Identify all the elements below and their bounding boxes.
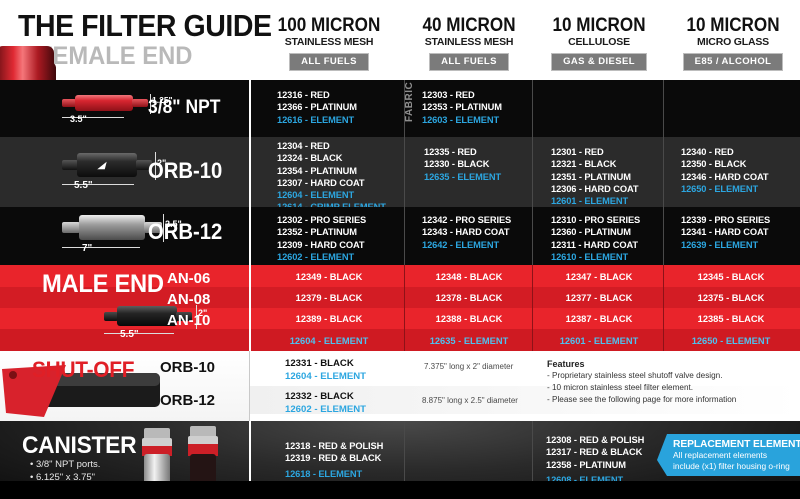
part-number: 12316 - RED xyxy=(277,89,357,101)
part-number: 12331 - BLACK xyxy=(285,358,366,371)
part-number: 12343 - HARD COAT xyxy=(422,226,511,238)
features-title: Features xyxy=(547,359,585,369)
male-end-title: MALE END xyxy=(42,270,164,299)
badge-line-1: All replacement elements xyxy=(673,450,794,461)
column-divider xyxy=(532,80,533,265)
element-part-number: 12616 - ELEMENT xyxy=(277,114,357,126)
part-number: 12347 - BLACK xyxy=(534,272,664,282)
element-part-number: 12601 - ELEMENT xyxy=(534,336,664,346)
part-list-shutoff-1: 12332 - BLACK 12602 - ELEMENT xyxy=(285,391,366,416)
element-part-number: 12604 - ELEMENT xyxy=(254,336,404,346)
filter-image-orb10: ◢ xyxy=(62,152,154,178)
part-number: 12330 - BLACK xyxy=(424,158,501,170)
part-number: 12366 - PLATINUM xyxy=(277,101,357,113)
row-label-an08: AN-08 xyxy=(167,291,210,308)
part-list-canister-0: 12318 - RED & POLISH 12319 - RED & BLACK… xyxy=(285,440,383,480)
dimension-length: 5.5" xyxy=(74,180,93,191)
part-number: 12354 - PLATINUM xyxy=(277,165,386,177)
fuel-compatibility-badge: GAS & DIESEL xyxy=(551,53,647,71)
part-number: 12303 - RED xyxy=(422,89,502,101)
part-list-shutoff-0: 12331 - BLACK 12604 - ELEMENT xyxy=(285,358,366,383)
part-number: 12321 - BLACK xyxy=(551,158,639,170)
canister-title: CANISTER xyxy=(22,432,136,460)
part-number: 12388 - BLACK xyxy=(406,314,532,324)
element-part-number: 12604 - ELEMENT xyxy=(285,371,366,384)
part-number: 12324 - BLACK xyxy=(277,152,386,164)
shutoff-dimension-1: 8.875" long x 2.5" diameter xyxy=(422,396,518,405)
part-list-r1c0: 12304 - RED 12324 - BLACK 12354 - PLATIN… xyxy=(277,140,386,214)
row-label-npt: 3/8" NPT xyxy=(148,97,220,119)
part-number: 12345 - BLACK xyxy=(665,272,797,282)
part-number: 12351 - PLATINUM xyxy=(551,171,639,183)
part-number: 12353 - PLATINUM xyxy=(422,101,502,113)
part-number: 12349 - BLACK xyxy=(254,272,404,282)
element-part-number: 12650 - ELEMENT xyxy=(681,183,769,195)
row-label-an10: AN-10 xyxy=(167,312,210,329)
part-list-r1c2: 12301 - RED 12321 - BLACK 12351 - PLATIN… xyxy=(551,146,639,207)
badge-title: REPLACEMENT ELEMENTS xyxy=(673,439,794,450)
dimension-line xyxy=(62,184,134,185)
part-number: 12310 - PRO SERIES xyxy=(551,214,640,226)
part-number: 12318 - RED & POLISH xyxy=(285,440,383,452)
row-label-orb10: ORB-10 xyxy=(148,158,222,184)
part-number: 12304 - RED xyxy=(277,140,386,152)
part-number: 12306 - HARD COAT xyxy=(551,183,639,195)
part-number: 12375 - BLACK xyxy=(665,293,797,303)
replacement-elements-badge: REPLACEMENT ELEMENTS All replacement ele… xyxy=(657,434,800,476)
part-number: 12360 - PLATINUM xyxy=(551,226,640,238)
micron-rating: 40 MICRON xyxy=(412,16,525,35)
part-list-r2c0: 12302 - PRO SERIES 12352 - PLATINUM 1230… xyxy=(277,214,366,263)
part-number: 12352 - PLATINUM xyxy=(277,226,366,238)
page-title: THE FILTER GUIDE xyxy=(18,8,272,44)
element-part-number: 12635 - ELEMENT xyxy=(406,336,532,346)
column-divider xyxy=(663,80,664,265)
part-number: 12301 - RED xyxy=(551,146,639,158)
dimension-length: 3.5" xyxy=(70,114,87,124)
column-header-1: 40 MICRON STAINLESS MESH ALL FUELS xyxy=(406,16,532,71)
feature-item: - Please see the following page for more… xyxy=(547,395,736,404)
column-divider xyxy=(404,421,405,481)
micron-rating: 100 MICRON xyxy=(262,16,397,35)
part-list-r1c1: 12335 - RED 12330 - BLACK 12635 - ELEMEN… xyxy=(424,146,501,183)
part-number: 12387 - BLACK xyxy=(534,314,664,324)
column-divider xyxy=(249,265,251,351)
element-part-number: 12603 - ELEMENT xyxy=(422,114,502,126)
part-list-r2c1: 12342 - PRO SERIES 12343 - HARD COAT 126… xyxy=(422,214,511,251)
part-number: 12309 - HARD COAT xyxy=(277,239,366,251)
row-label-shutoff-orb12: ORB-12 xyxy=(160,392,215,409)
element-part-number: 12602 - ELEMENT xyxy=(285,404,366,417)
footer-bar xyxy=(0,481,800,499)
column-header-2: 10 MICRON CELLULOSE GAS & DIESEL xyxy=(534,16,664,71)
row-label-shutoff-orb10: ORB-10 xyxy=(160,359,215,376)
part-number: 12379 - BLACK xyxy=(254,293,404,303)
filter-material: STAINLESS MESH xyxy=(254,35,404,50)
part-number: 12378 - BLACK xyxy=(406,293,532,303)
filter-guide-infographic: THE FILTER GUIDE FEMALE END 100 MICRON S… xyxy=(0,0,800,499)
column-divider xyxy=(663,265,664,351)
fabric-label: FABRIC xyxy=(404,82,415,122)
micron-rating: 10 MICRON xyxy=(541,16,658,35)
canister-spec: • 3/8" NPT ports. xyxy=(30,459,100,470)
part-number: 12308 - RED & POLISH xyxy=(546,434,644,446)
element-part-number: 12602 - ELEMENT xyxy=(277,251,366,263)
column-divider xyxy=(249,80,251,265)
feature-item: - Proprietary stainless steel shutoff va… xyxy=(547,371,723,380)
element-part-number: 12639 - ELEMENT xyxy=(681,239,770,251)
part-number: 12346 - HARD COAT xyxy=(681,171,769,183)
column-header-3: 10 MICRON MICRO GLASS E85 / ALCOHOL xyxy=(666,16,800,71)
filter-image-npt xyxy=(62,94,150,112)
part-number: 12317 - RED & BLACK xyxy=(546,446,644,458)
part-list-r0c1: 12303 - RED 12353 - PLATINUM 12603 - ELE… xyxy=(422,89,502,126)
part-number: 12339 - PRO SERIES xyxy=(681,214,770,226)
column-divider xyxy=(532,421,533,481)
element-part-number: 12610 - ELEMENT xyxy=(551,251,640,263)
page-subtitle: FEMALE END xyxy=(38,42,192,71)
shutoff-dimension-0: 7.375" long x 2" diameter xyxy=(424,362,513,371)
part-number: 12389 - BLACK xyxy=(254,314,404,324)
filter-image-orb12 xyxy=(62,214,162,240)
part-list-r2c2: 12310 - PRO SERIES 12360 - PLATINUM 1231… xyxy=(551,214,640,263)
part-number: 12307 - HARD COAT xyxy=(277,177,386,189)
part-list-r0c0: 12316 - RED 12366 - PLATINUM 12616 - ELE… xyxy=(277,89,357,126)
part-number: 12302 - PRO SERIES xyxy=(277,214,366,226)
badge-line-2: include (x1) filter housing o-ring xyxy=(673,461,794,472)
column-divider xyxy=(404,265,405,351)
part-number: 12319 - RED & BLACK xyxy=(285,452,383,464)
shutoff-title: SHUT-OFF xyxy=(32,357,134,383)
part-list-r2c3: 12339 - PRO SERIES 12341 - HARD COAT 126… xyxy=(681,214,770,251)
part-number: 12348 - BLACK xyxy=(406,272,532,282)
part-number: 12335 - RED xyxy=(424,146,501,158)
part-number: 12342 - PRO SERIES xyxy=(422,214,511,226)
part-number: 12377 - BLACK xyxy=(534,293,664,303)
micron-rating: 10 MICRON xyxy=(673,16,794,35)
column-divider xyxy=(404,80,405,265)
part-number: 12385 - BLACK xyxy=(665,314,797,324)
column-divider xyxy=(532,265,533,351)
part-number: 12340 - RED xyxy=(681,146,769,158)
fuel-compatibility-badge: E85 / ALCOHOL xyxy=(683,53,784,71)
part-number: 12332 - BLACK xyxy=(285,391,366,404)
element-part-number: 12618 - ELEMENT xyxy=(285,468,383,480)
dimension-length: 5.5" xyxy=(120,329,139,340)
part-list-canister-2: 12308 - RED & POLISH 12317 - RED & BLACK… xyxy=(546,434,644,486)
filter-material: CELLULOSE xyxy=(534,35,664,50)
dimension-line xyxy=(104,333,174,334)
dimension-line xyxy=(62,247,140,248)
part-number: 12358 - PLATINUM xyxy=(546,459,644,471)
element-part-number: 12650 - ELEMENT xyxy=(665,336,797,346)
part-number: 12311 - HARD COAT xyxy=(551,239,640,251)
part-number: 12341 - HARD COAT xyxy=(681,226,770,238)
part-number: 12350 - BLACK xyxy=(681,158,769,170)
part-list-r1c3: 12340 - RED 12350 - BLACK 12346 - HARD C… xyxy=(681,146,769,195)
feature-item: - 10 micron stainless steel filter eleme… xyxy=(547,383,693,392)
element-part-number: 12635 - ELEMENT xyxy=(424,171,501,183)
filter-material: STAINLESS MESH xyxy=(406,35,532,50)
element-part-number: 12642 - ELEMENT xyxy=(422,239,511,251)
element-part-number: 12604 - ELEMENT xyxy=(277,189,386,201)
filter-material: MICRO GLASS xyxy=(666,35,800,50)
element-part-number: 12601 - ELEMENT xyxy=(551,195,639,207)
row-label-orb12: ORB-12 xyxy=(148,219,222,245)
dimension-length: 7" xyxy=(82,243,92,254)
column-divider xyxy=(249,351,250,421)
column-header-0: 100 MICRON STAINLESS MESH ALL FUELS xyxy=(254,16,404,71)
fuel-compatibility-badge: ALL FUELS xyxy=(429,53,509,71)
fuel-compatibility-badge: ALL FUELS xyxy=(289,53,369,71)
row-label-an06: AN-06 xyxy=(167,270,210,287)
column-divider xyxy=(249,421,251,481)
